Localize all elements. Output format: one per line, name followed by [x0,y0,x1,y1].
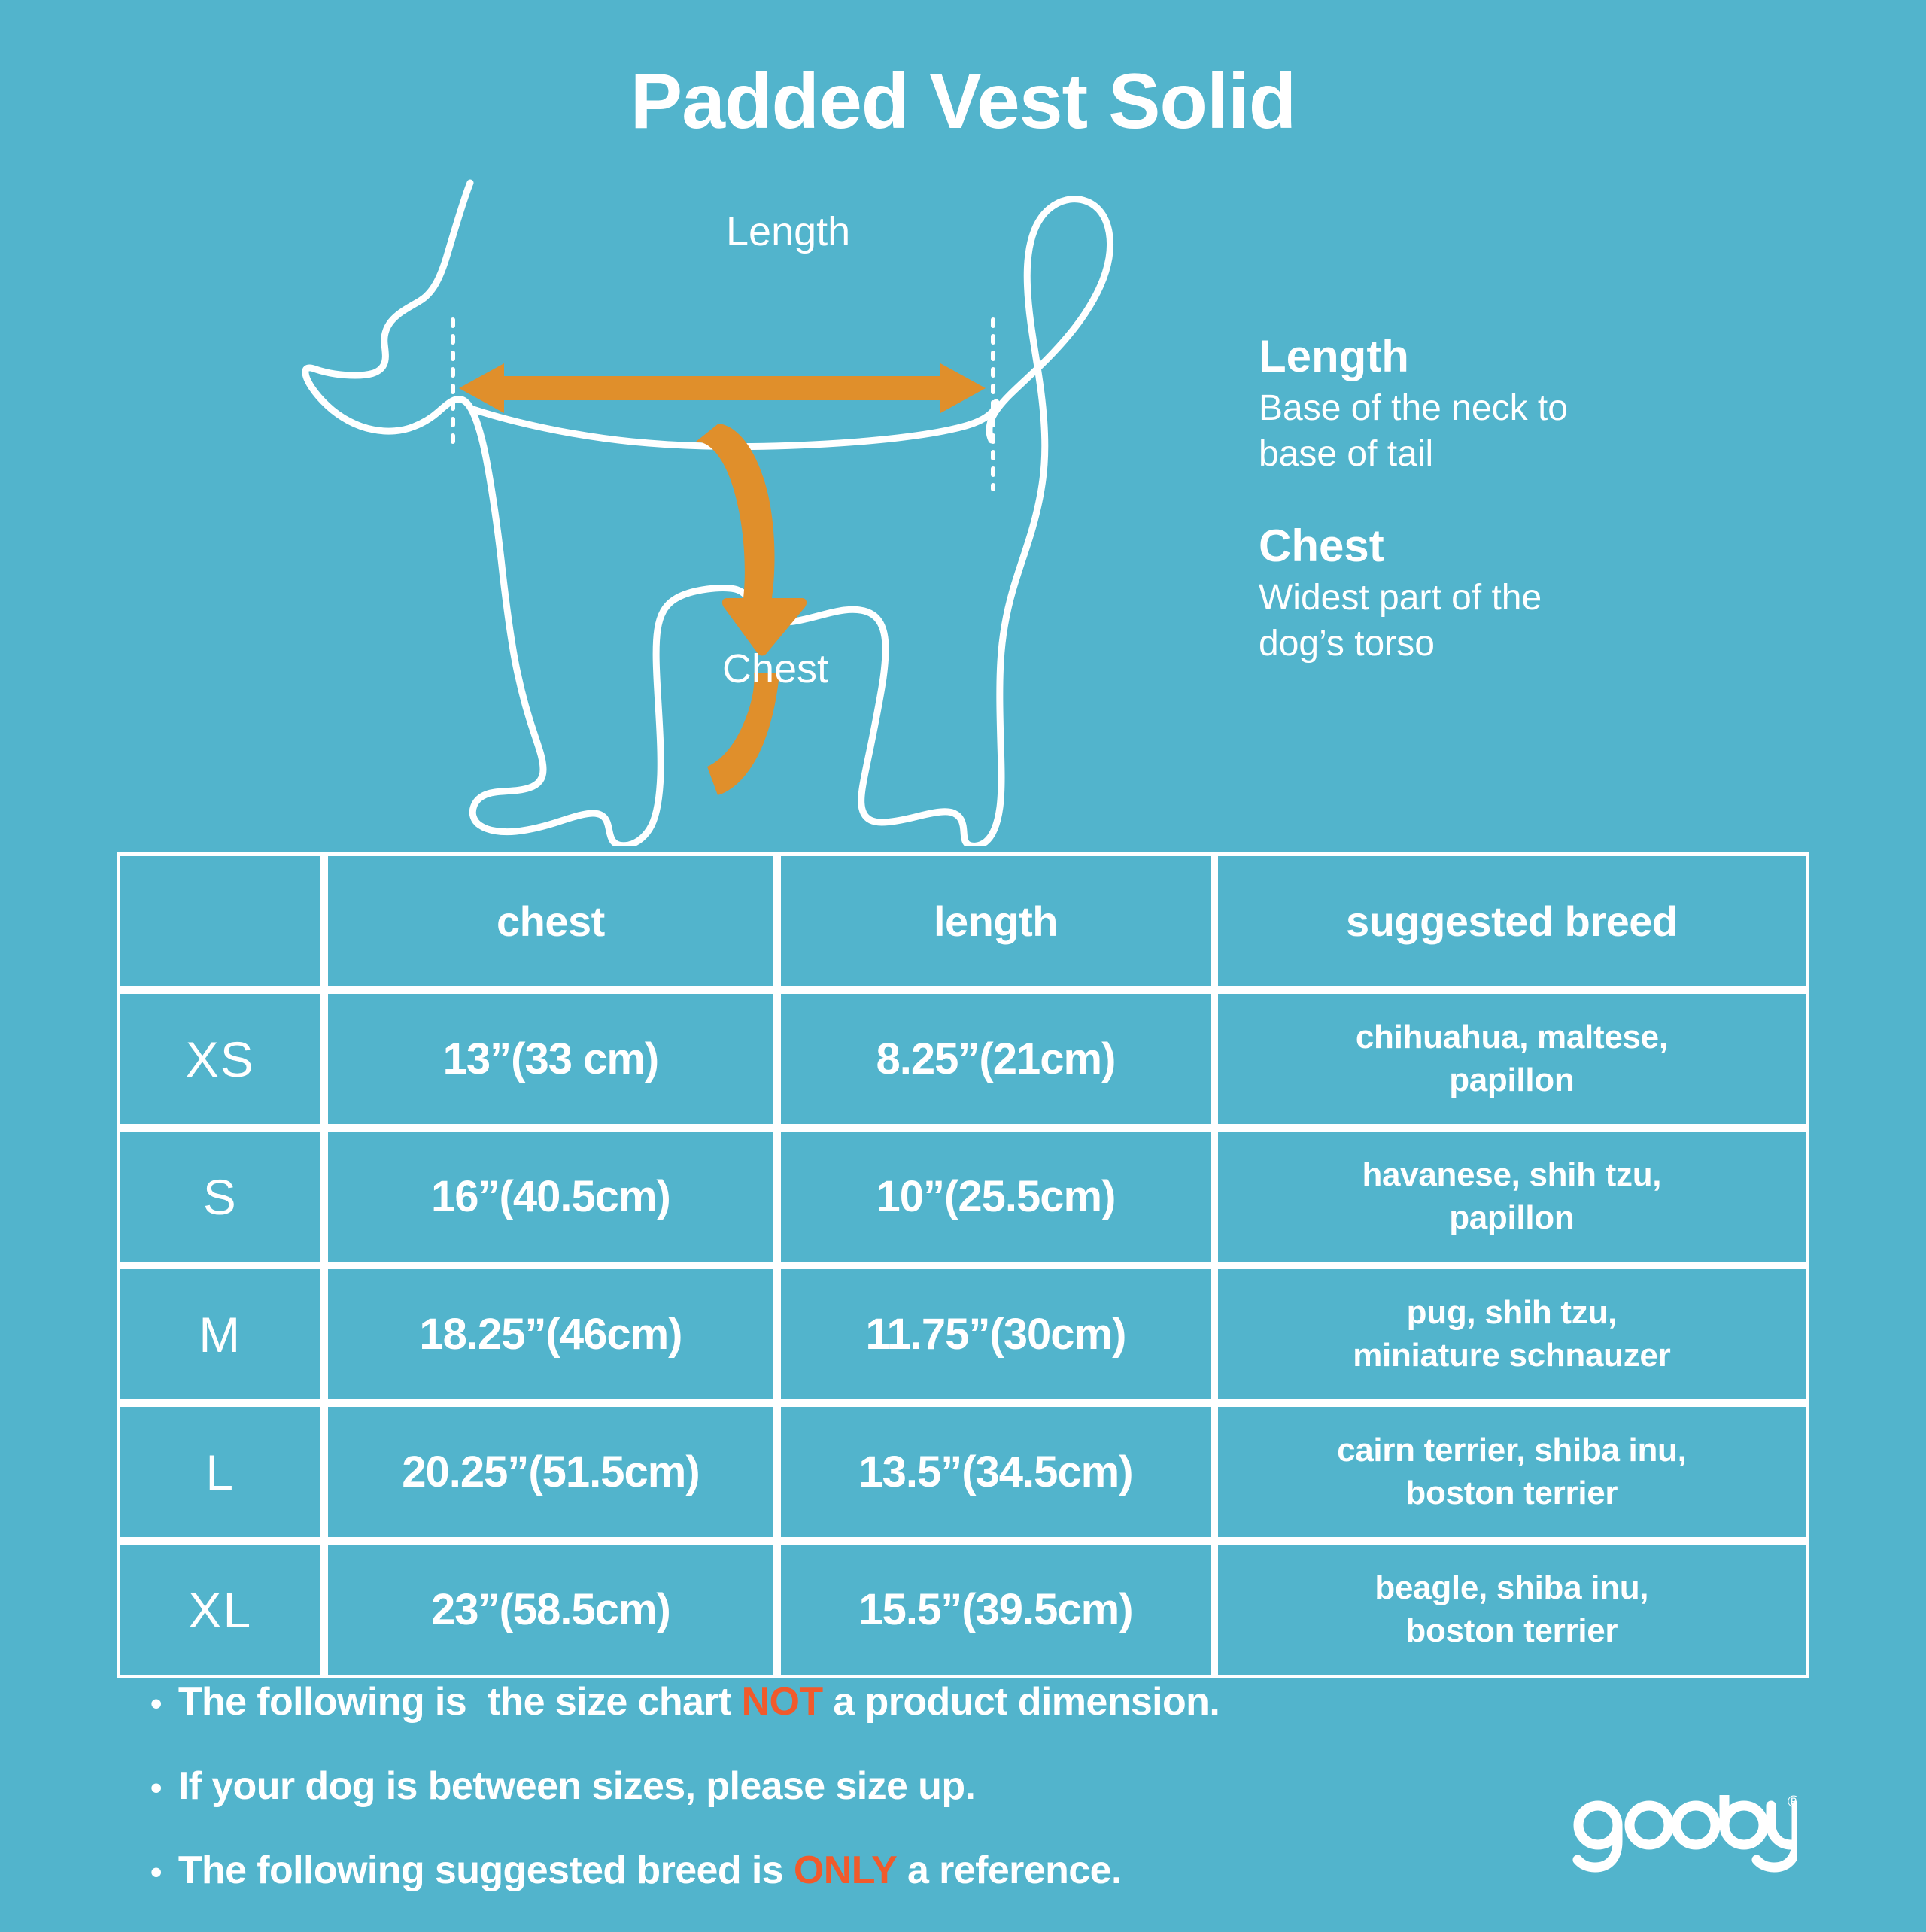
note-highlight: NOT [742,1679,823,1724]
cell-size: S [117,1128,324,1265]
size-chart-table: chest length suggested breed XS 13”(33 c… [117,852,1809,1678]
cell-size: XL [117,1541,324,1678]
cell-chest: 20.25”(51.5cm) [324,1403,778,1541]
table-header-size [117,852,324,990]
bullet-icon: • [150,1856,162,1889]
cell-breed-line1: chihuahua, maltese, [1218,1016,1806,1059]
legend-term-length: Length [1259,331,1800,381]
legend-desc-chest-line1: Widest part of the [1259,576,1800,621]
note-item: • The following suggested breed is ONLY … [150,1848,1580,1893]
table-row: M 18.25”(46cm) 11.75”(30cm) pug, shih tz… [117,1265,1809,1403]
legend-desc-length-line1: Base of the neck to [1259,386,1800,431]
table-header-chest: chest [324,852,778,990]
chest-arrow-upper [696,424,807,656]
measurement-legend: Length Base of the neck to base of tail … [1259,331,1800,710]
legend-term-chest: Chest [1259,521,1800,571]
cell-size: L [117,1403,324,1541]
cell-length: 11.75”(30cm) [777,1265,1214,1403]
cell-breed: pug, shih tzu, miniature schnauzer [1214,1265,1809,1403]
cell-breed-line1: pug, shih tzu, [1218,1292,1806,1334]
cell-chest: 13”(33 cm) [324,990,778,1128]
table-row: XL 23”(58.5cm) 15.5”(39.5cm) beagle, shi… [117,1541,1809,1678]
cell-breed: havanese, shih tzu, papillon [1214,1128,1809,1265]
cell-chest: 23”(58.5cm) [324,1541,778,1678]
cell-breed-line2: papillon [1218,1197,1806,1239]
gooby-logo: ® [1571,1795,1797,1885]
note-text-before: If your dog is between sizes, please siz… [178,1763,976,1809]
bullet-icon: • [150,1687,162,1721]
page-title: Padded Vest Solid [0,59,1926,144]
length-measure-label: Length [726,208,850,255]
dog-outline-path [305,183,1110,846]
registered-trademark-icon: ® [1788,1795,1797,1811]
note-item: • If your dog is between sizes, please s… [150,1763,1580,1809]
cell-size: XS [117,990,324,1128]
note-text-after: a product dimension. [823,1679,1220,1724]
table-row: S 16”(40.5cm) 10”(25.5cm) havanese, shih… [117,1128,1809,1265]
cell-breed-line2: boston terrier [1218,1610,1806,1652]
cell-chest: 18.25”(46cm) [324,1265,778,1403]
length-arrow [459,363,986,413]
table-row: L 20.25”(51.5cm) 13.5”(34.5cm) cairn ter… [117,1403,1809,1541]
table-row: XS 13”(33 cm) 8.25”(21cm) chihuahua, mal… [117,990,1809,1128]
cell-length: 10”(25.5cm) [777,1128,1214,1265]
dog-measurement-illustration [286,147,1136,846]
legend-desc-length-line2: base of tail [1259,432,1800,477]
cell-size: M [117,1265,324,1403]
note-text-before: The following suggested breed is [178,1848,794,1893]
note-text-after: a reference. [897,1848,1122,1893]
table-header-suggested-breed: suggested breed [1214,852,1809,990]
cell-breed-line1: cairn terrier, shiba inu, [1218,1429,1806,1472]
chest-measure-label: Chest [722,646,828,692]
legend-item-chest: Chest Widest part of the dog’s torso [1259,521,1800,667]
cell-chest: 16”(40.5cm) [324,1128,778,1265]
note-highlight: ONLY [794,1848,897,1893]
cell-length: 15.5”(39.5cm) [777,1541,1214,1678]
legend-item-length: Length Base of the neck to base of tail [1259,331,1800,477]
cell-length: 8.25”(21cm) [777,990,1214,1128]
cell-breed-line2: miniature schnauzer [1218,1335,1806,1377]
cell-breed: cairn terrier, shiba inu, boston terrier [1214,1403,1809,1541]
legend-desc-chest-line2: dog’s torso [1259,621,1800,667]
cell-breed-line1: beagle, shiba inu, [1218,1567,1806,1609]
cell-breed-line2: boston terrier [1218,1472,1806,1514]
table-header-row: chest length suggested breed [117,852,1809,990]
cell-breed: beagle, shiba inu, boston terrier [1214,1541,1809,1678]
disclaimer-notes: • The following is the size chart NOT a … [150,1679,1580,1932]
table-header-length: length [777,852,1214,990]
note-text-before: The following is the size chart [178,1679,742,1724]
bullet-icon: • [150,1772,162,1805]
cell-length: 13.5”(34.5cm) [777,1403,1214,1541]
cell-breed-line1: havanese, shih tzu, [1218,1154,1806,1196]
cell-breed: chihuahua, maltese, papillon [1214,990,1809,1128]
cell-breed-line2: papillon [1218,1059,1806,1101]
note-item: • The following is the size chart NOT a … [150,1679,1580,1724]
